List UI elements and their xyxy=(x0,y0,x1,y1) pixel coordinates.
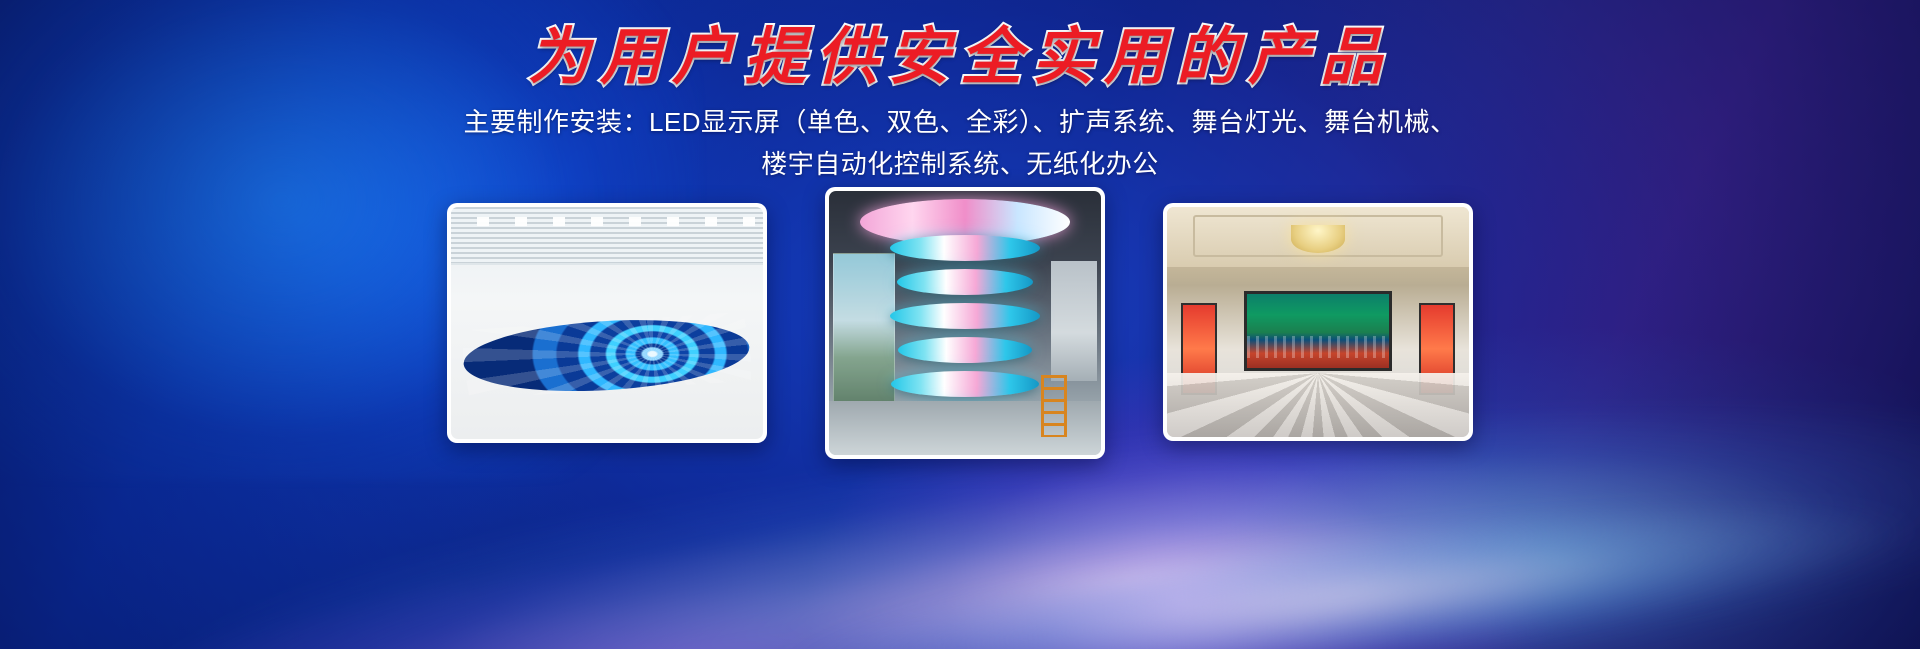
eye-display-pixel-blocks xyxy=(463,312,750,399)
screen-skyline-graphic xyxy=(1247,336,1389,358)
spiral-turn xyxy=(897,269,1033,295)
chandelier-icon xyxy=(1291,225,1345,253)
banner-subtitle-line-2: 楼宇自动化控制系统、无纸化办公 xyxy=(0,143,1920,185)
banner-headline: 为用户提供安全实用的产品 xyxy=(0,24,1920,91)
banner-subtitle-line-1: 主要制作安装：LED显示屏（单色、双色、全彩）、扩声系统、舞台灯光、舞台机械、 xyxy=(0,101,1920,143)
spiral-turn xyxy=(898,337,1032,363)
spiral-turn xyxy=(890,235,1040,261)
atrium-window-right xyxy=(1051,261,1097,381)
spiral-turn xyxy=(890,303,1040,329)
spiral-led-column-image xyxy=(829,191,1101,455)
eye-shaped-led-display-image xyxy=(451,207,763,439)
spiral-turn xyxy=(891,371,1039,397)
conference-floor-sheen xyxy=(1167,373,1469,437)
banner-content: 为用户提供安全实用的产品 主要制作安装：LED显示屏（单色、双色、全彩）、扩声系… xyxy=(0,24,1920,185)
promo-banner: 为用户提供安全实用的产品 主要制作安装：LED显示屏（单色、双色、全彩）、扩声系… xyxy=(0,0,1920,649)
hall-ceiling xyxy=(451,207,763,265)
main-led-screen xyxy=(1244,291,1392,371)
gallery-photo-conference-hall-led-screen[interactable] xyxy=(1163,203,1473,441)
conference-hall-led-screen-image xyxy=(1167,207,1469,437)
eye-display-frame xyxy=(463,300,750,411)
eye-display-panel xyxy=(463,312,750,399)
atrium-window-left xyxy=(833,253,895,403)
gallery-photo-spiral-led-column[interactable] xyxy=(825,187,1105,459)
step-ladder xyxy=(1041,375,1067,437)
banner-subtitle: 主要制作安装：LED显示屏（单色、双色、全彩）、扩声系统、舞台灯光、舞台机械、 … xyxy=(0,101,1920,185)
gallery-photo-eye-shaped-led-display[interactable] xyxy=(447,203,767,443)
project-photo-gallery xyxy=(0,203,1920,459)
